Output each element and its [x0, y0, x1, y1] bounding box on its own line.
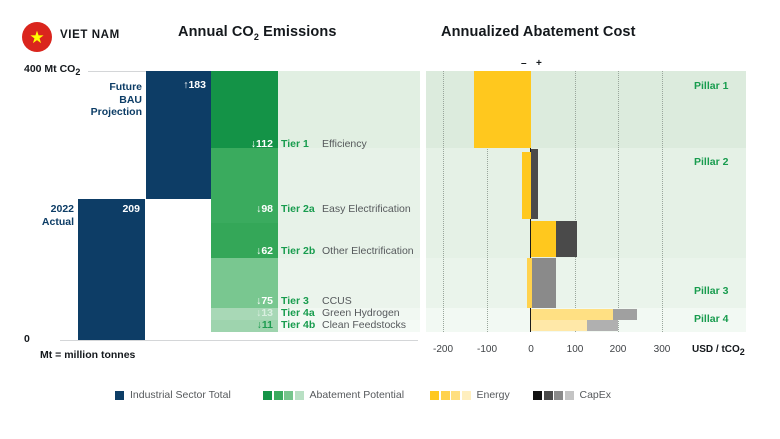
tier-value-4b: ↓11	[211, 319, 273, 331]
legend-item-industrial-sector-total: Industrial Sector Total	[115, 389, 231, 401]
legend-swatch-yellow-3	[451, 391, 460, 400]
tier-strip-1	[278, 71, 420, 148]
costbar-tier2b-capex	[556, 221, 577, 257]
bau-line-1: Future	[80, 81, 142, 94]
legend-item-capex: CapEx	[533, 389, 611, 401]
pillar-label-2: Pillar 2	[694, 156, 728, 168]
legend-label-capex: CapEx	[580, 389, 612, 401]
pillar-band-3	[426, 258, 746, 308]
bau-line-2: BAU	[80, 94, 142, 107]
tier-name-4a: Tier 4a	[281, 307, 315, 319]
bar-label-future-bau: Future BAU Projection	[80, 81, 142, 119]
tier-desc-2b: Other Electrification	[322, 245, 414, 257]
sign-positive: +	[536, 58, 542, 69]
legend-swatch-navy	[115, 391, 124, 400]
legend-label-industrial-sector-total: Industrial Sector Total	[130, 389, 231, 401]
legend-label-abatement-potential: Abatement Potential	[310, 389, 405, 401]
costbar-tier2a-energy	[522, 152, 531, 219]
legend-swatch-gray-1	[533, 391, 542, 400]
y-axis-zero-label: 0	[24, 333, 30, 345]
legend-item-abatement-potential: Abatement Potential	[263, 389, 404, 401]
costbar-tier1-energy	[474, 71, 531, 148]
tier-value-2b: ↓62	[211, 245, 273, 257]
tier-value-1: ↓112	[211, 138, 273, 150]
vgridline-200	[618, 71, 619, 332]
tier-value-3: ↓75	[211, 295, 273, 307]
gridline-0	[60, 340, 418, 341]
left-chart-title-main: Annual CO	[178, 24, 254, 40]
bau-line-3: Projection	[80, 106, 142, 119]
tier-name-2a: Tier 2a	[281, 203, 315, 215]
legend-swatch-gray-4	[565, 391, 574, 400]
tier-desc-3: CCUS	[322, 295, 352, 307]
tier-name-3: Tier 3	[281, 295, 309, 307]
xtick-0: 0	[506, 344, 556, 355]
vgridline-100	[575, 71, 576, 332]
legend-swatch-yellow-1	[430, 391, 439, 400]
tier-name-2b: Tier 2b	[281, 245, 315, 257]
legend-swatch-gray-2	[544, 391, 553, 400]
legend-swatch-gray-3	[554, 391, 563, 400]
tier-desc-4b: Clean Feedstocks	[322, 319, 406, 331]
bar-value-2022-actual: 209	[80, 203, 140, 215]
xtick--100: -100	[462, 344, 512, 355]
vgridline-300	[662, 71, 663, 332]
tier-desc-4a: Green Hydrogen	[322, 307, 400, 319]
pillar-label-3: Pillar 3	[694, 285, 728, 297]
costbar-tier4a-energy	[531, 309, 614, 320]
bar-value-future-bau: ↑183	[148, 79, 206, 91]
costbar-tier2b-energy	[531, 221, 556, 257]
actual-line-2: Actual	[12, 216, 74, 229]
y-axis-top-value: 400 Mt CO	[24, 63, 75, 75]
country-name: VIET NAM	[60, 29, 120, 41]
pillar-label-4: Pillar 4	[694, 313, 728, 325]
vgridline--200	[443, 71, 444, 332]
costbar-tier4a-capex	[613, 309, 637, 320]
legend-swatch-green-4	[295, 391, 304, 400]
y-axis-top-label: 400 Mt CO2	[24, 63, 80, 77]
x-axis-unit-sub: 2	[740, 347, 745, 357]
legend-swatch-green-1	[263, 391, 272, 400]
left-chart-title-tail: Emissions	[259, 24, 337, 40]
abatement-segment-tier1	[211, 71, 278, 148]
xtick--200: -200	[418, 344, 468, 355]
infographic-root: ★ VIET NAM Annual CO2 Emissions Annualiz…	[0, 0, 780, 439]
xtick-300: 300	[637, 344, 687, 355]
actual-line-1: 2022	[12, 203, 74, 216]
tier-desc-2a: Easy Electrification	[322, 203, 411, 215]
costbar-tier4b-energy	[531, 320, 587, 331]
legend-label-energy: Energy	[477, 389, 510, 401]
tier-value-4a: ↓13	[211, 307, 273, 319]
flag-star-icon: ★	[29, 29, 44, 46]
x-axis-unit: USD / tCO2	[692, 344, 745, 357]
bar-label-2022-actual: 2022 Actual	[12, 203, 74, 228]
legend-swatch-yellow-4	[462, 391, 471, 400]
legend-swatch-green-3	[284, 391, 293, 400]
y-axis-top-sub: 2	[75, 67, 80, 77]
pillar-label-1: Pillar 1	[694, 80, 728, 92]
xtick-200: 200	[593, 344, 643, 355]
vietnam-flag-icon: ★	[22, 22, 52, 52]
costbar-tier3-capex	[532, 258, 556, 308]
legend-swatch-green-2	[274, 391, 283, 400]
costbar-tier4b-capex	[587, 320, 618, 331]
x-axis-unit-main: USD / tCO	[692, 344, 740, 355]
bar-2022-actual	[78, 199, 145, 340]
costbar-tier2a-capex	[531, 149, 538, 219]
tier-name-4b: Tier 4b	[281, 319, 315, 331]
left-chart-title: Annual CO2 Emissions	[178, 24, 337, 42]
tier-desc-1: Efficiency	[322, 138, 367, 150]
tier-value-2a: ↓98	[211, 203, 273, 215]
legend-swatch-yellow-2	[441, 391, 450, 400]
legend-item-energy: Energy	[430, 389, 510, 401]
tier-name-1: Tier 1	[281, 138, 309, 150]
right-chart-title: Annualized Abatement Cost	[441, 24, 636, 40]
sign-negative: –	[521, 58, 527, 69]
footnote: Mt = million tonnes	[40, 349, 135, 361]
